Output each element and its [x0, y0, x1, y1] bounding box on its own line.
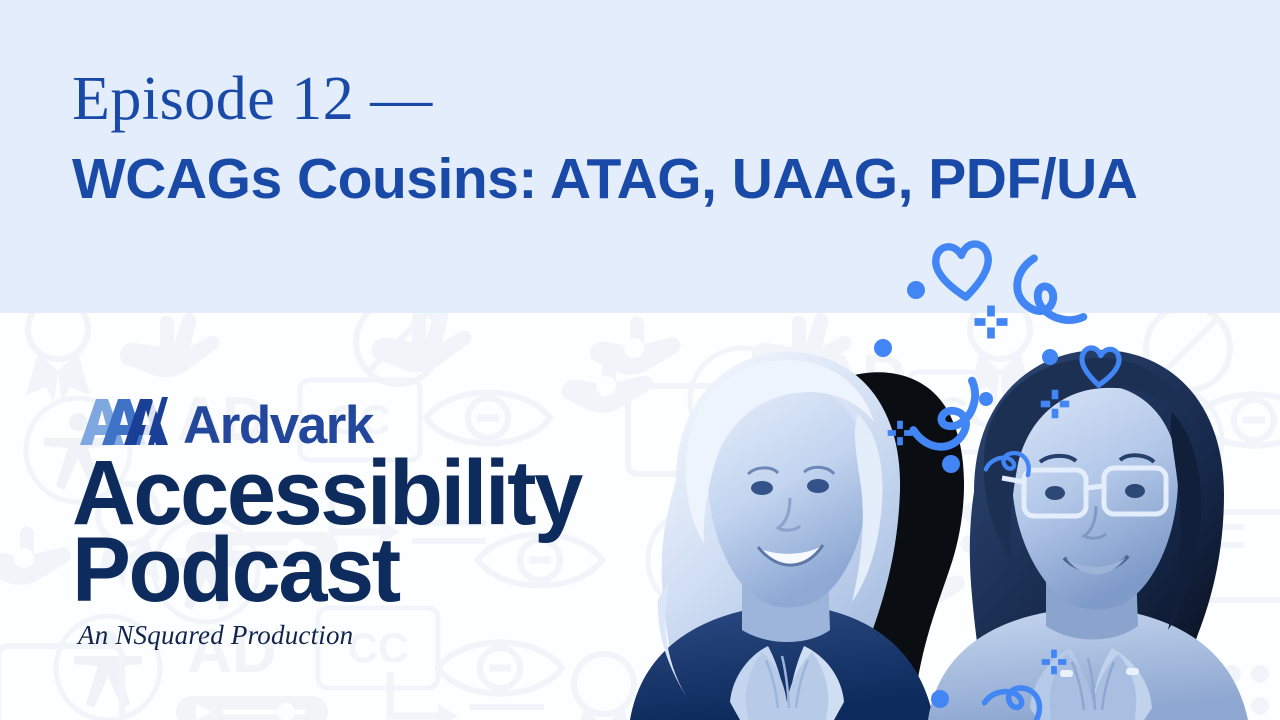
header-band: Episode 12 — WCAGs Cousins: ATAG, UAAG, …: [0, 0, 1280, 313]
podcast-cover-image: AD CC: [0, 0, 1280, 720]
production-tagline: An NSquared Production: [78, 620, 353, 651]
podcast-title: Accessibility Podcast: [72, 455, 581, 610]
episode-label: Episode 12 —: [72, 68, 433, 130]
host-photos: [570, 330, 1280, 720]
host-photo-blonde: [590, 330, 970, 720]
host-photo-glasses: [920, 330, 1280, 720]
episode-title: WCAGs Cousins: ATAG, UAAG, PDF/UA: [72, 150, 1137, 210]
